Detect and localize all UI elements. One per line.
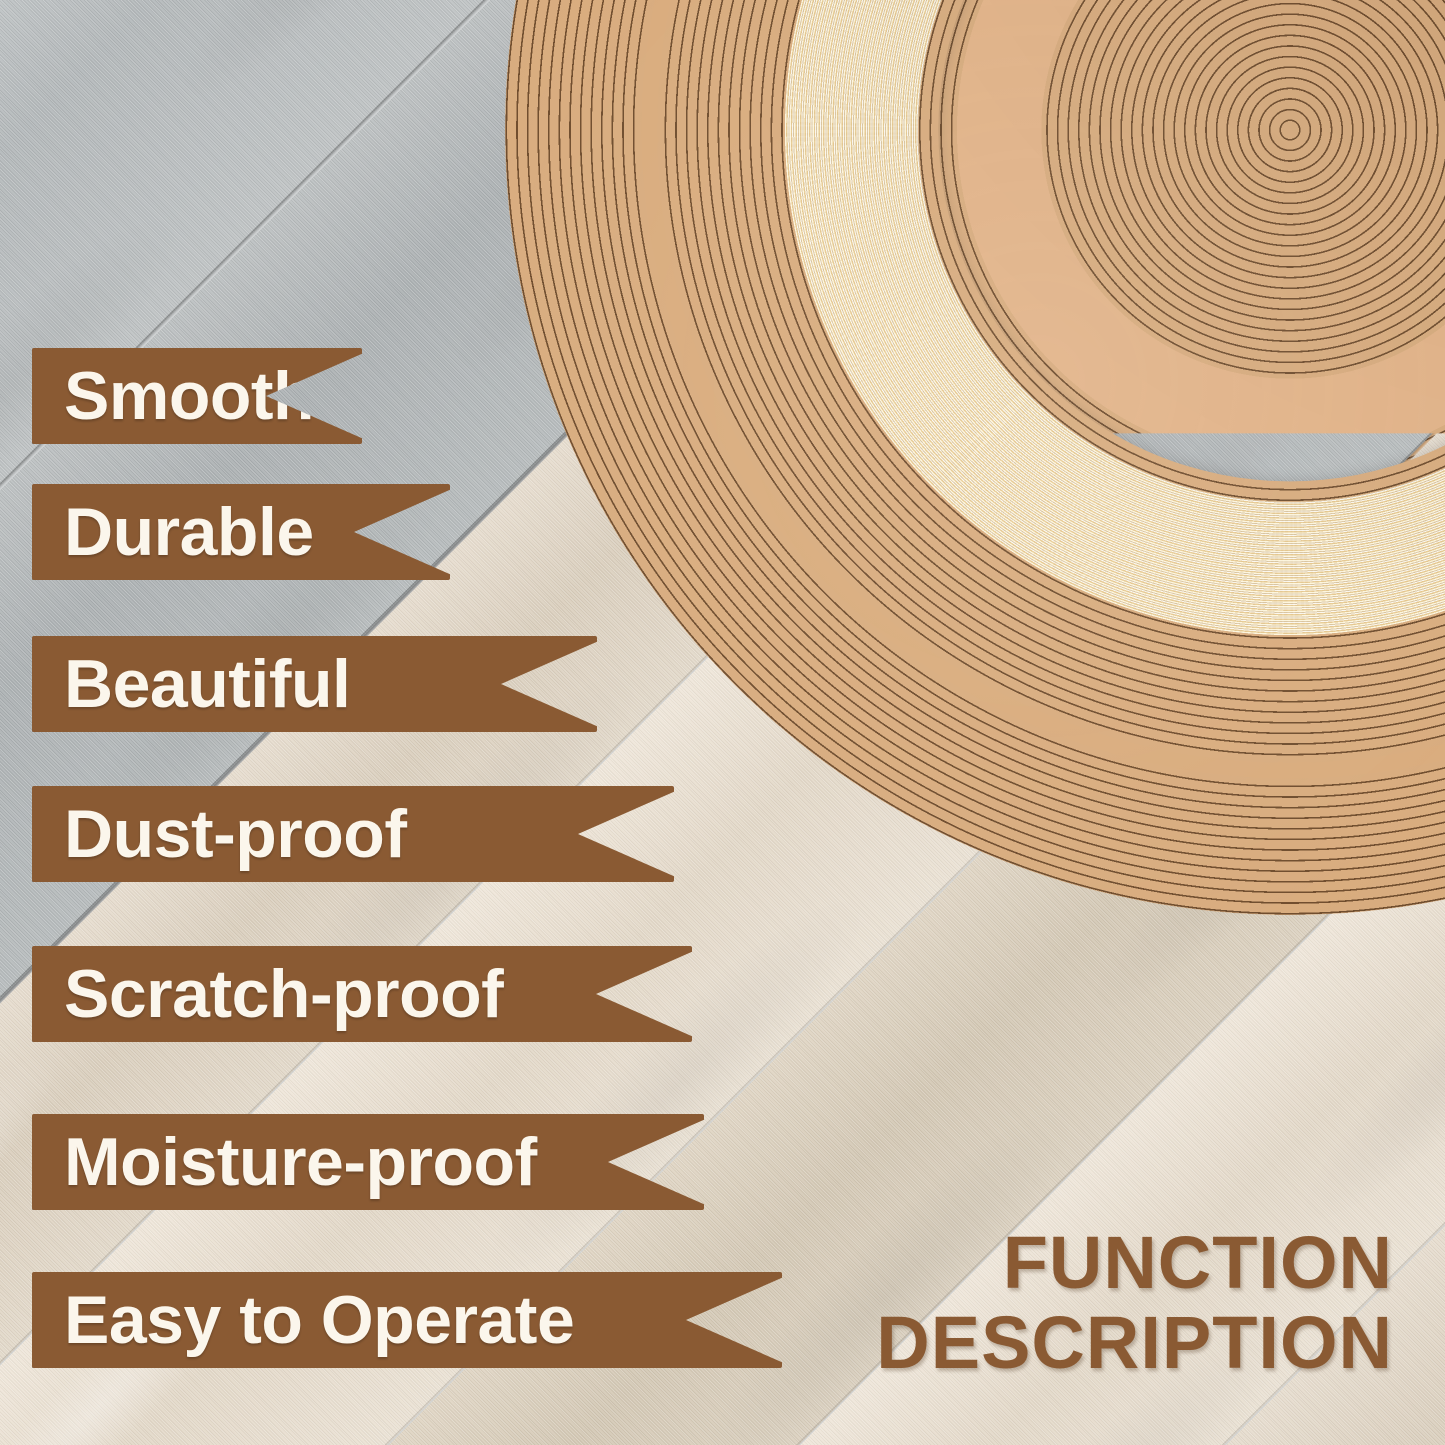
function-description-line-2: DESCRIPTION <box>876 1303 1393 1383</box>
feature-banner-easy-to-operate[interactable]: Easy to Operate <box>32 1272 782 1368</box>
function-description-heading: FUNCTION DESCRIPTION <box>876 1223 1393 1383</box>
feature-banner-label: Scratch-proof <box>64 960 503 1028</box>
feature-banner-label: Easy to Operate <box>64 1286 574 1354</box>
function-description-line-1: FUNCTION <box>876 1223 1393 1303</box>
feature-banner-scratch-proof[interactable]: Scratch-proof <box>32 946 692 1042</box>
feature-banner-moisture-proof[interactable]: Moisture-proof <box>32 1114 704 1210</box>
infographic-canvas: Smooth Durable Beautiful Dust-proof Scra… <box>0 0 1445 1445</box>
feature-banner-label: Smooth <box>64 362 314 430</box>
feature-banner-beautiful[interactable]: Beautiful <box>32 636 597 732</box>
feature-banner-smooth[interactable]: Smooth <box>32 348 362 444</box>
feature-banner-label: Dust-proof <box>64 800 406 868</box>
feature-banner-label: Beautiful <box>64 650 350 718</box>
feature-banner-durable[interactable]: Durable <box>32 484 450 580</box>
feature-banner-label: Durable <box>64 498 314 566</box>
feature-banner-dust-proof[interactable]: Dust-proof <box>32 786 674 882</box>
feature-banner-label: Moisture-proof <box>64 1128 537 1196</box>
